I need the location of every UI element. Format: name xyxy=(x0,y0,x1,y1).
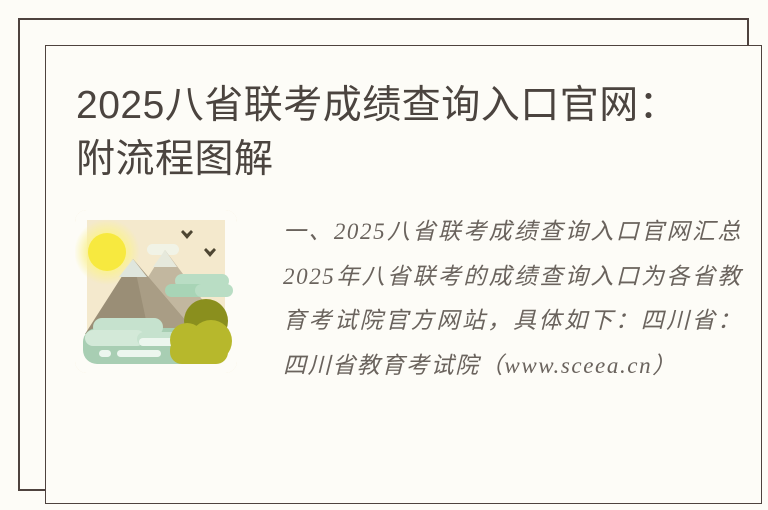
mountain-landscape-icon xyxy=(75,210,237,373)
article-body: 一、2025八省联考成绩查询入口官网汇总2025年八省联考的成绩查询入口为各省教… xyxy=(45,210,762,388)
article-card: 2025八省联考成绩查询入口官网：附流程图解 xyxy=(45,45,762,504)
page-outer-border: 2025八省联考成绩查询入口官网：附流程图解 xyxy=(18,18,749,491)
article-excerpt-text: 一、2025八省联考成绩查询入口官网汇总2025年八省联考的成绩查询入口为各省教… xyxy=(237,210,762,388)
article-thumbnail-image xyxy=(75,210,237,373)
page-title: 2025八省联考成绩查询入口官网：附流程图解 xyxy=(76,79,696,187)
